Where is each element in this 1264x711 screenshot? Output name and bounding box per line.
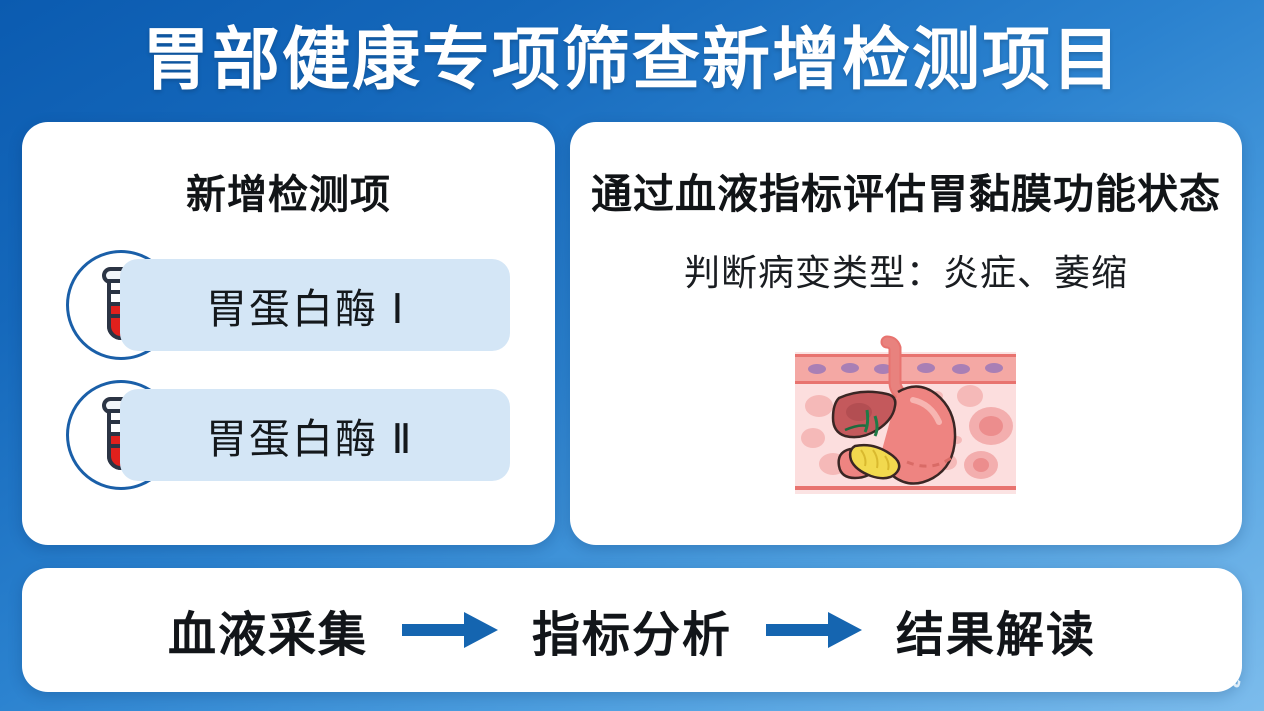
assessment-card: 通过血液指标评估胃黏膜功能状态 判断病变类型：炎症、萎缩	[570, 122, 1242, 545]
list-item-label: 胃蛋白酶 Ⅰ	[206, 275, 405, 335]
stomach-anatomy-illustration	[795, 334, 1016, 511]
test-item-pill[interactable]: 胃蛋白酶 Ⅱ	[120, 389, 510, 481]
workflow-step-2: 指标分析	[532, 595, 732, 665]
arrow-right-icon	[402, 610, 498, 650]
list-item[interactable]: 胃蛋白酶 Ⅰ	[66, 250, 516, 360]
new-tests-card: 新增检测项 胃蛋白酶 Ⅰ	[22, 122, 555, 545]
page-title: 胃部健康专项筛查新增检测项目	[142, 26, 1122, 94]
assessment-heading: 通过血液指标评估胃黏膜功能状态	[570, 160, 1242, 220]
workflow-card: 血液采集 指标分析 结果解读	[22, 568, 1242, 692]
new-tests-heading: 新增检测项	[22, 162, 555, 220]
workflow-steps: 血液采集 指标分析 结果解读	[22, 568, 1242, 692]
arrow-right-icon	[766, 610, 862, 650]
assessment-subheading: 判断病变类型：炎症、萎缩	[570, 244, 1242, 296]
poster-title-bar: 胃部健康专项筛查新增检测项目	[0, 10, 1264, 110]
list-item-label: 胃蛋白酶 Ⅱ	[206, 405, 414, 465]
list-item[interactable]: 胃蛋白酶 Ⅱ	[66, 380, 516, 490]
workflow-step-1: 血液采集	[168, 595, 368, 665]
poster-root: 胃部健康专项筛查新增检测项目 新增检测项 胃蛋白酶 Ⅰ	[0, 0, 1264, 711]
workflow-step-3: 结果解读	[896, 595, 1096, 665]
test-item-pill[interactable]: 胃蛋白酶 Ⅰ	[120, 259, 510, 351]
